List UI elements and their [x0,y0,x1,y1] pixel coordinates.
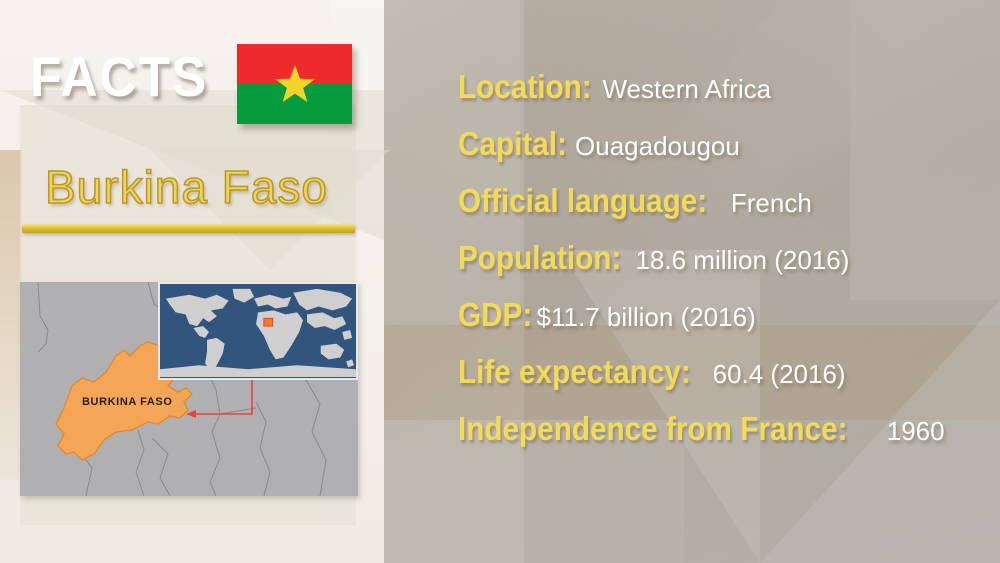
fact-label: Official language: [458,182,707,220]
title-divider [22,224,355,233]
fact-label: GDP: [458,296,532,334]
fact-value: $11.7 billion (2016) [537,302,756,333]
fact-row: Official language: French [458,182,998,239]
flag-star-icon [273,62,317,106]
fact-value: 18.6 million (2016) [635,245,849,276]
world-map-graphic [160,284,356,378]
facts-list: Location: Western Africa Capital: Ouagad… [458,68,998,467]
fact-row: Capital: Ouagadougou [458,125,998,182]
fact-value: French [731,188,812,219]
fact-value: Western Africa [602,74,771,105]
fact-label: Independence from France: [458,410,847,448]
locator-map: BURKINA FASO [20,282,358,496]
fact-row: Location: Western Africa [458,68,998,125]
left-panel: FACTS Burkina Faso [0,0,384,563]
page-title: FACTS [30,44,208,109]
facts-slide: FACTS Burkina Faso [0,0,1000,563]
world-map-inset [158,282,358,380]
fact-value: 60.4 (2016) [713,359,846,390]
fact-row: Population: 18.6 million (2016) [458,239,998,296]
fact-label: Life expectancy: [458,353,691,391]
burkina-faso-flag-icon [237,44,352,124]
fact-value: 1960 [887,416,945,447]
fact-value: Ouagadougou [575,131,740,162]
fact-label: Population: [458,239,621,277]
fact-label: Location: [458,68,592,106]
fact-label: Capital: [458,125,567,163]
map-country-label: BURKINA FASO [82,396,173,408]
country-title: Burkina Faso [45,160,328,214]
fact-row: Independence from France: 1960 [458,410,998,467]
fact-row: GDP: $11.7 billion (2016) [458,296,998,353]
fact-row: Life expectancy: 60.4 (2016) [458,353,998,410]
